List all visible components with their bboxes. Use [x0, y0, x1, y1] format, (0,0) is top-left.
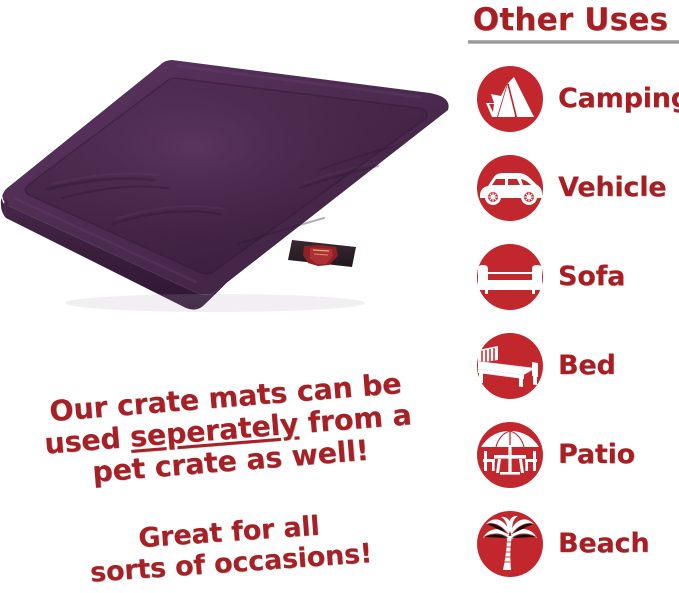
patio-umbrella-icon — [474, 419, 546, 491]
use-label-camping: Camping — [558, 83, 679, 114]
product-image-crate-mat — [0, 48, 452, 338]
use-item-camping: Camping — [462, 54, 679, 143]
use-label-vehicle: Vehicle — [558, 172, 679, 203]
use-item-beach: Beach — [462, 499, 679, 588]
tent-icon — [474, 63, 546, 135]
use-item-bed: Bed — [462, 321, 679, 410]
other-uses-panel: Other Uses Camping — [462, 0, 679, 593]
other-uses-title: Other Uses — [462, 2, 679, 38]
promo-secondary-text: Great for all sorts of occasions! — [58, 506, 401, 591]
product-panel: Our crate mats can be used seperately fr… — [0, 0, 462, 593]
palm-tree-icon — [474, 508, 546, 580]
use-label-patio: Patio — [558, 439, 679, 470]
bed-icon — [474, 330, 546, 402]
other-uses-list: Camping — [462, 54, 679, 588]
sofa-icon — [474, 241, 546, 313]
brand-tag — [288, 240, 356, 267]
use-item-sofa: Sofa — [462, 232, 679, 321]
car-icon — [474, 152, 546, 224]
use-label-sofa: Sofa — [558, 261, 679, 292]
title-divider — [468, 40, 679, 44]
use-item-vehicle: Vehicle — [462, 143, 679, 232]
use-label-bed: Bed — [558, 350, 679, 381]
use-item-patio: Patio — [462, 410, 679, 499]
promo-primary-text: Our crate mats can be used seperately fr… — [19, 366, 437, 495]
use-label-beach: Beach — [558, 528, 679, 559]
